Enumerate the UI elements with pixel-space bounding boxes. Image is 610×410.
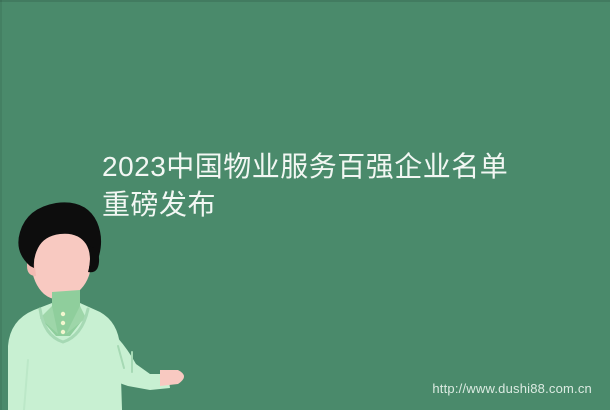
poster-canvas: 2023中国物业服务百强企业名单重磅发布 http://www.dushi88.… (0, 0, 610, 410)
top-edge-shade (0, 0, 610, 2)
shirt-button-2 (61, 321, 65, 325)
page-title: 2023中国物业服务百强企业名单重磅发布 (102, 148, 532, 224)
hand-shape (160, 370, 184, 386)
person-illustration (0, 196, 200, 410)
shirt-button-1 (61, 312, 65, 316)
shirt-button-3 (61, 330, 65, 334)
person-illustration-svg (0, 196, 200, 410)
source-watermark: http://www.dushi88.com.cn (432, 381, 592, 396)
